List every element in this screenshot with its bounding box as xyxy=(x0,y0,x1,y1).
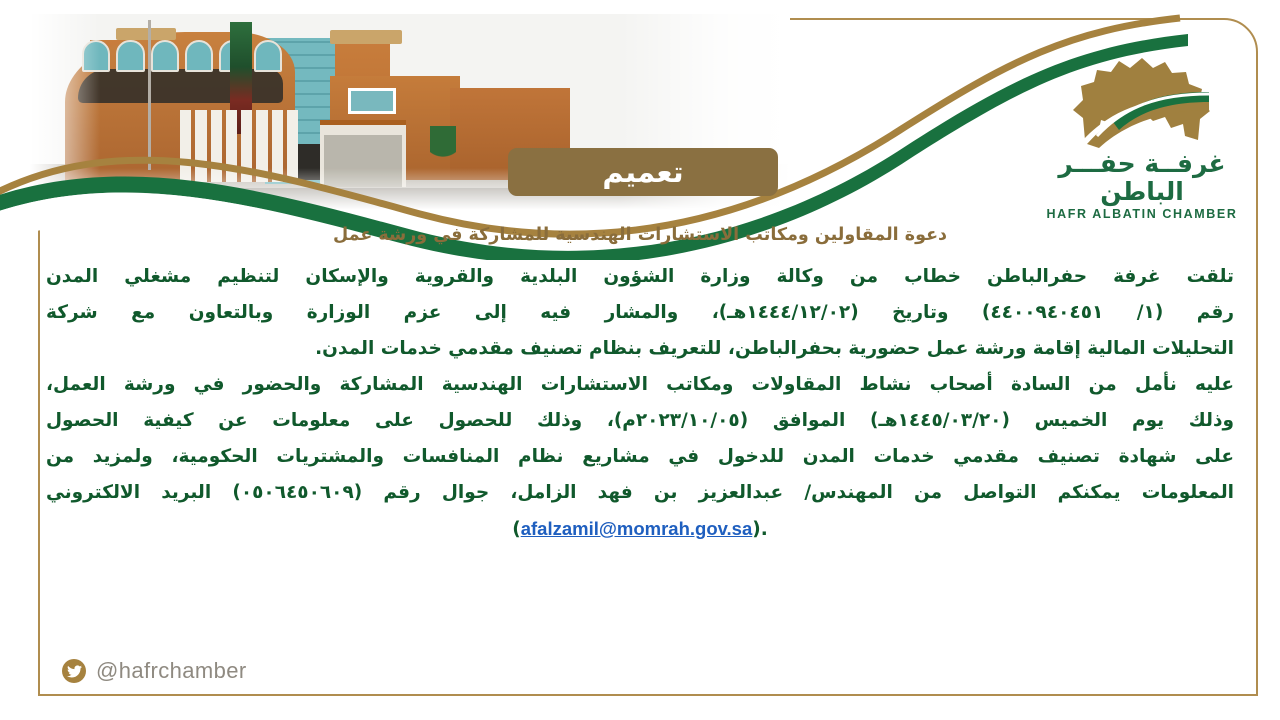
notice-body: دعوة المقاولين ومكاتب الاستشارات الهندسي… xyxy=(46,222,1234,545)
body-line-3: التحليلات المالية إقامة ورشة عمل حضورية … xyxy=(46,334,1234,364)
email-line: .(afalzamil@momrah.gov.sa) xyxy=(46,514,1234,545)
circular-banner-label: تعميم xyxy=(602,155,683,189)
body-line-6: على شهادة تصنيف مقدمي خدمات المدن للدخول… xyxy=(46,442,1234,472)
chamber-logo: غرفــة حفـــر الباطن HAFR ALBATIN CHAMBE… xyxy=(1042,44,1242,221)
hafr-albatin-chamber-logo-icon xyxy=(1067,44,1217,152)
twitter-bird-icon xyxy=(62,659,86,683)
circular-banner: تعميم xyxy=(508,148,778,196)
logo-name-arabic: غرفــة حفـــر الباطن xyxy=(1042,150,1242,205)
twitter-footer[interactable]: @hafrchamber xyxy=(62,658,247,684)
twitter-handle: @hafrchamber xyxy=(96,658,247,684)
body-line-2: رقم (١/ ٤٤٠٠٩٤٠٤٥١) وتاريخ (١٤٤٤/١٢/٠٢هـ… xyxy=(46,298,1234,328)
body-line-5: وذلك يوم الخميس (١٤٤٥/٠٣/٢٠هـ) الموافق (… xyxy=(46,406,1234,436)
email-line-suffix: ) xyxy=(512,519,520,540)
body-line-7: المعلومات يمكنكم التواصل من المهندس/ عبد… xyxy=(46,478,1234,508)
logo-name-english: HAFR ALBATIN CHAMBER xyxy=(1042,207,1242,221)
notice-poster: غرفــة حفـــر الباطن HAFR ALBATIN CHAMBE… xyxy=(0,0,1280,720)
body-line-4: عليه نأمل من السادة أصحاب نشاط المقاولات… xyxy=(46,370,1234,400)
body-line-1: تلقت غرفة حفرالباطن خطاب من وكالة وزارة … xyxy=(46,262,1234,292)
page-title: دعوة المقاولين ومكاتب الاستشارات الهندسي… xyxy=(46,222,1234,248)
email-line-prefix: .( xyxy=(752,519,767,540)
contact-email-link[interactable]: afalzamil@momrah.gov.sa xyxy=(521,514,753,544)
